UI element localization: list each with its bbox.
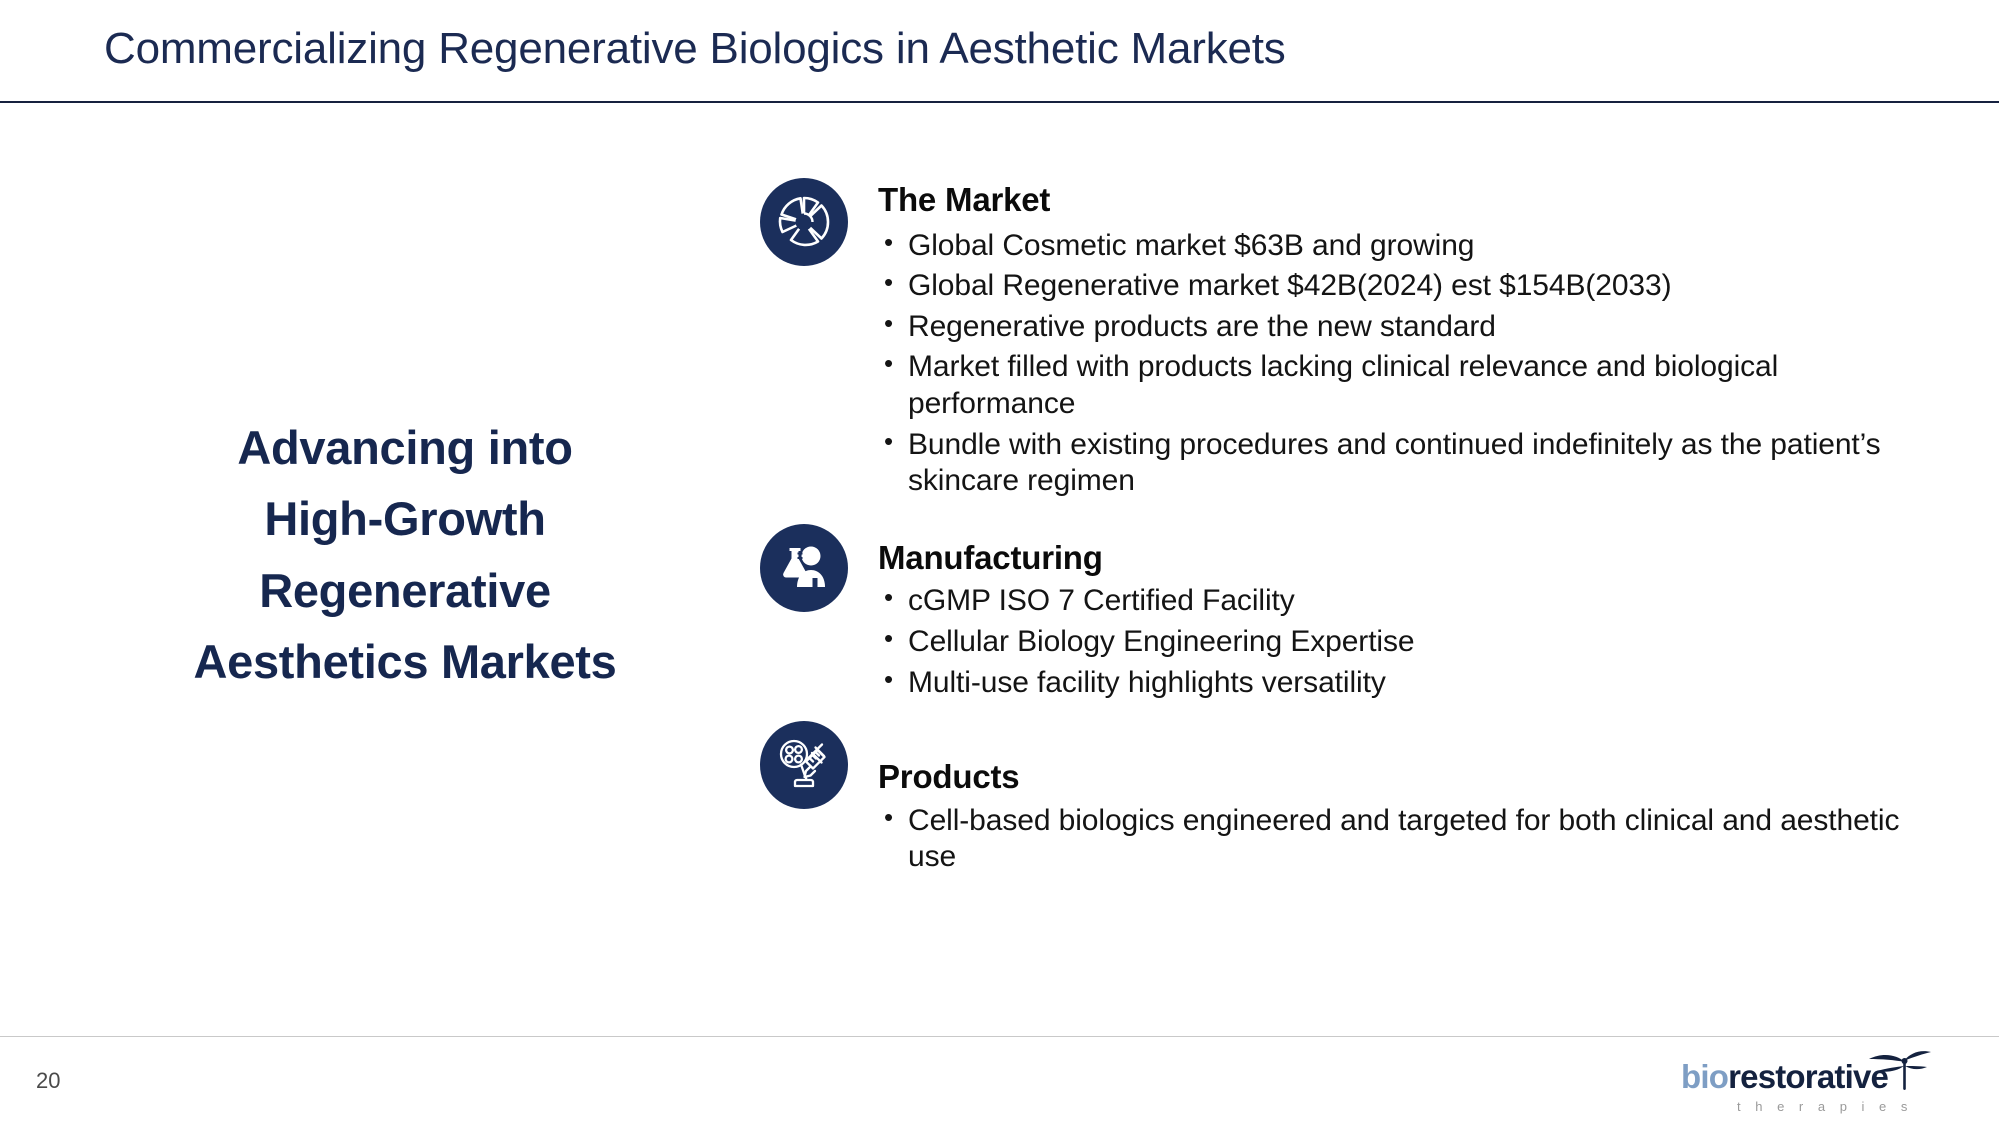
list-item: Multi-use facility highlights versatilit… [878,665,1940,702]
bullet-list-manufacturing: cGMP ISO 7 Certified Facility Cellular B… [878,583,1940,701]
list-item: Global Cosmetic market $63B and growing [878,228,1940,265]
footer-divider [0,1036,1999,1037]
brand-wordmark: biorestorative [1681,1058,1888,1096]
slide-header: Commercializing Regenerative Biologics i… [0,0,1999,103]
page-number: 20 [36,1068,60,1094]
list-item: Global Regenerative market $42B(2024) es… [878,268,1940,305]
section-market: The Market Global Cosmetic market $63B a… [760,178,1940,504]
section-products: Products Cell-based biologics engineered… [760,721,1940,880]
headline-line-2: High-Growth [60,483,750,554]
page-title: Commercializing Regenerative Biologics i… [104,24,1286,74]
brand-tagline: t h e r a p i e s [1737,1099,1913,1114]
headline-line-4: Aesthetics Markets [60,626,750,697]
pie-chart-icon [760,178,848,266]
headline-line-1: Advancing into [60,412,750,483]
section-body-market: The Market Global Cosmetic market $63B a… [878,178,1940,504]
list-item: Cellular Biology Engineering Expertise [878,624,1940,661]
brand-logo: biorestorative t h e r a p i e s [1681,1052,1971,1114]
scientist-flask-icon [760,524,848,612]
bullet-list-market: Global Cosmetic market $63B and growing … [878,228,1940,500]
list-item: Market filled with products lacking clin… [878,349,1940,422]
brand-word-secondary: restorative [1728,1058,1888,1095]
section-manufacturing: Manufacturing cGMP ISO 7 Certified Facil… [760,524,1940,705]
list-item: Bundle with existing procedures and cont… [878,427,1940,500]
section-title-manufacturing: Manufacturing [878,538,1940,578]
bullet-list-products: Cell-based biologics engineered and targ… [878,803,1940,876]
section-body-products: Products Cell-based biologics engineered… [878,721,1940,880]
content-column: The Market Global Cosmetic market $63B a… [760,178,1940,880]
section-title-market: The Market [878,180,1940,220]
section-body-manufacturing: Manufacturing cGMP ISO 7 Certified Facil… [878,524,1940,705]
list-item: cGMP ISO 7 Certified Facility [878,583,1940,620]
list-item: Cell-based biologics engineered and targ… [878,803,1940,876]
brand-word-primary: bio [1681,1058,1728,1095]
left-headline: Advancing into High-Growth Regenerative … [60,412,750,698]
headline-line-3: Regenerative [60,555,750,626]
list-item: Regenerative products are the new standa… [878,309,1940,346]
header-divider [0,101,1999,103]
section-title-products: Products [878,757,1940,797]
cells-syringe-icon [760,721,848,809]
